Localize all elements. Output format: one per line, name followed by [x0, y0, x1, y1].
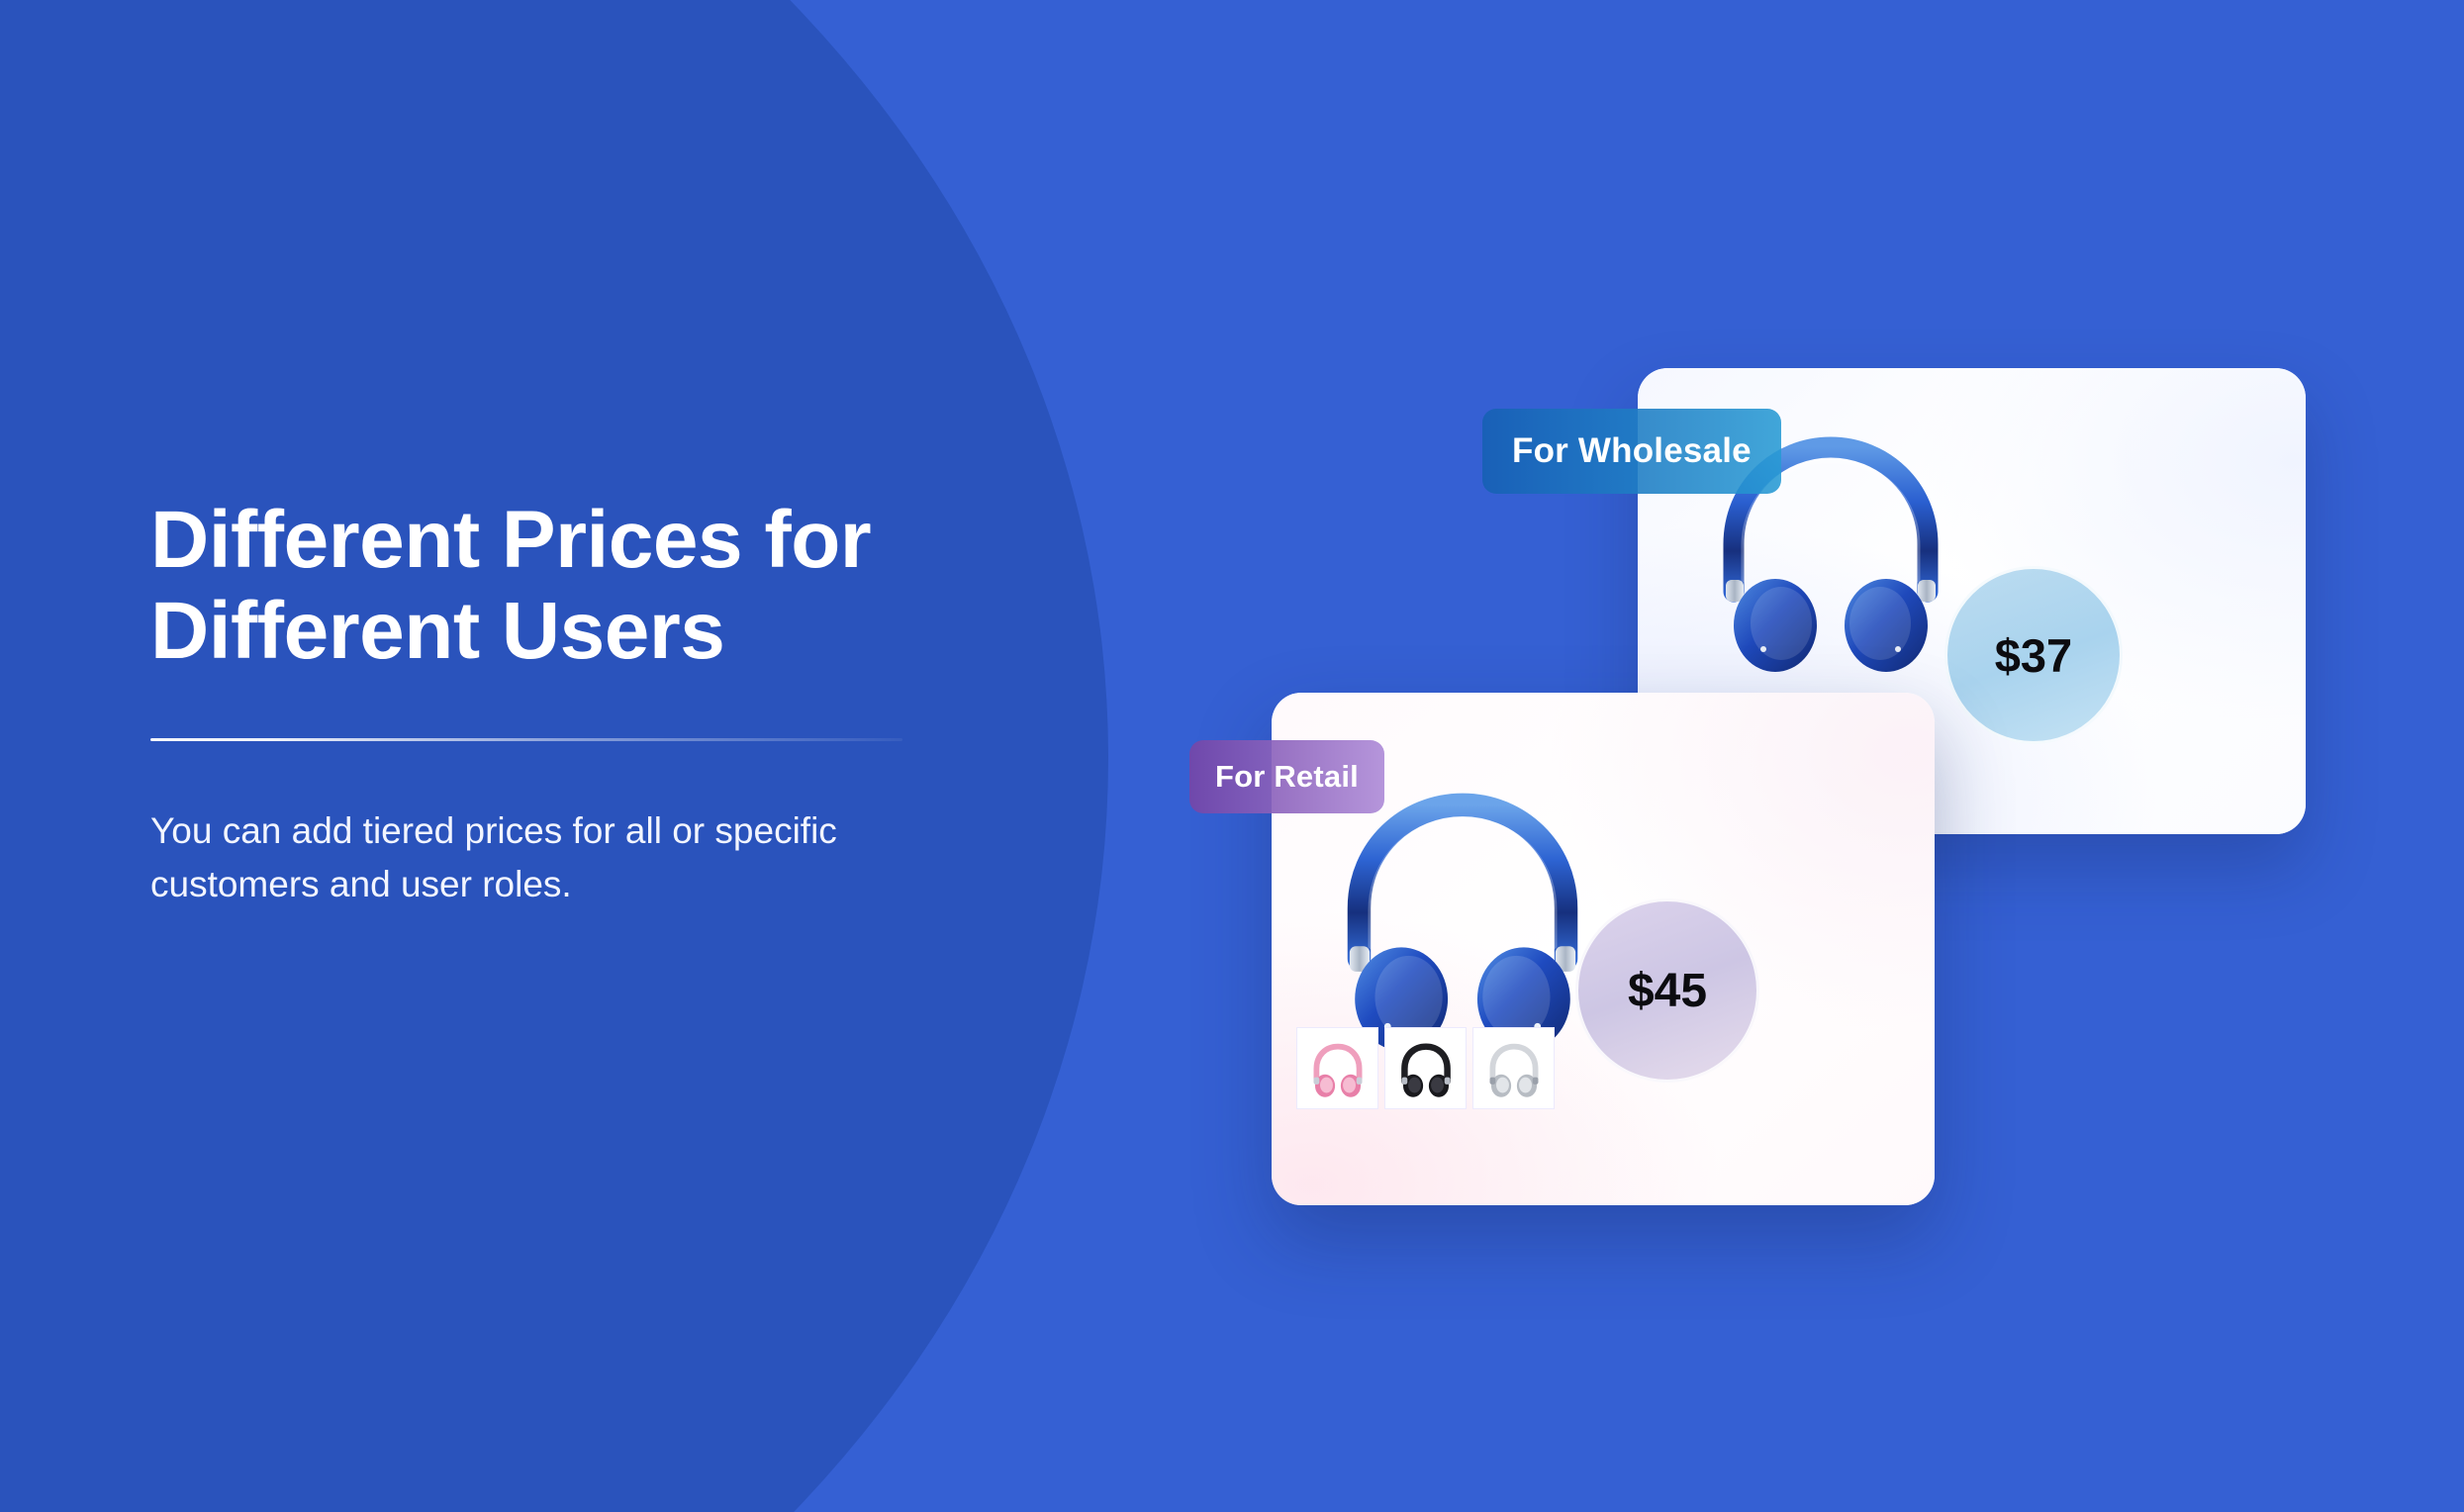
price-badge-retail: $45	[1575, 898, 1759, 1083]
tier-badge-wholesale[interactable]: For Wholesale	[1482, 409, 1781, 494]
black-headphones-swatch[interactable]	[1384, 1027, 1467, 1109]
price-badge-wholesale: $37	[1944, 566, 2123, 744]
color-swatch-list	[1296, 1027, 1555, 1109]
pink-headphones-swatch[interactable]	[1296, 1027, 1378, 1109]
page-title: Different Prices for Different Users	[150, 495, 1041, 677]
tier-badge-retail[interactable]: For Retail	[1189, 740, 1384, 813]
title-divider	[150, 738, 902, 741]
silver-headphones-swatch[interactable]	[1472, 1027, 1555, 1109]
slide-canvas: Different Prices for Different Users You…	[0, 0, 2464, 1512]
hero-subtext: You can add tiered prices for all or spe…	[150, 804, 1001, 911]
hero-text-column: Different Prices for Different Users You…	[150, 495, 1041, 911]
